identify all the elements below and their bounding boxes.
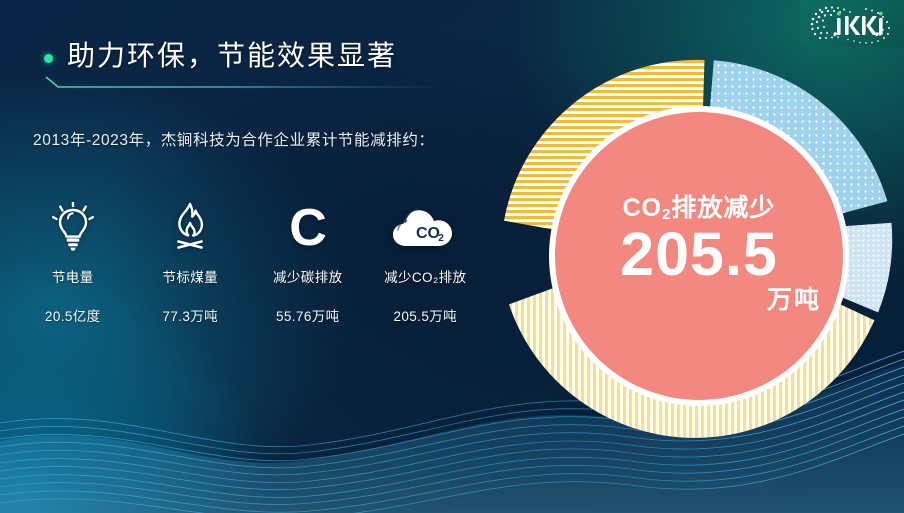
intro-paragraph: 2013年-2023年，杰锏科技为合作企业累计节能减排约： [33, 126, 483, 156]
svg-text:CO: CO [416, 225, 440, 242]
stat-label: 节标煤量 [132, 266, 250, 286]
stat-value: 55.76万吨 [249, 305, 367, 325]
stat-label: 减少碳排放 [249, 266, 367, 286]
donut-center-circle [555, 112, 843, 400]
stat-value: 20.5亿度 [14, 305, 132, 325]
stat-item: 节标煤量 77.3万吨 [132, 198, 250, 325]
page-title-block: 助力环保，节能效果显著 [44, 42, 397, 70]
title-underline-accent [44, 76, 444, 90]
slide-root: 助力环保，节能效果显著 2013年-2023年，杰锏科技为合作企业累计节能减排约… [0, 0, 904, 513]
donut-chart [491, 48, 904, 464]
stat-label: 减少CO₂排放 [367, 266, 485, 286]
stat-value: 205.5万吨 [367, 305, 485, 325]
dot-bullet-icon [44, 54, 53, 63]
page-title: 助力环保，节能效果显著 [67, 42, 397, 70]
svg-text:2: 2 [438, 233, 444, 244]
lightbulb-icon [14, 198, 132, 256]
brand-logo[interactable] [800, 0, 904, 47]
carbon-letter-c-icon: C [249, 198, 367, 256]
stats-row: 节电量 20.5亿度 节标煤量 77.3万吨 C [14, 198, 484, 325]
stat-item: 节电量 20.5亿度 [14, 198, 132, 325]
svg-text:C: C [289, 201, 327, 253]
stat-item: CO 2 减少CO₂排放 205.5万吨 [367, 198, 485, 325]
flame-icon [132, 198, 250, 256]
stat-label: 节电量 [14, 266, 132, 286]
co2-cloud-icon: CO 2 [367, 198, 485, 256]
stat-item: C 减少碳排放 55.76万吨 [249, 198, 367, 325]
stat-value: 77.3万吨 [132, 305, 250, 325]
